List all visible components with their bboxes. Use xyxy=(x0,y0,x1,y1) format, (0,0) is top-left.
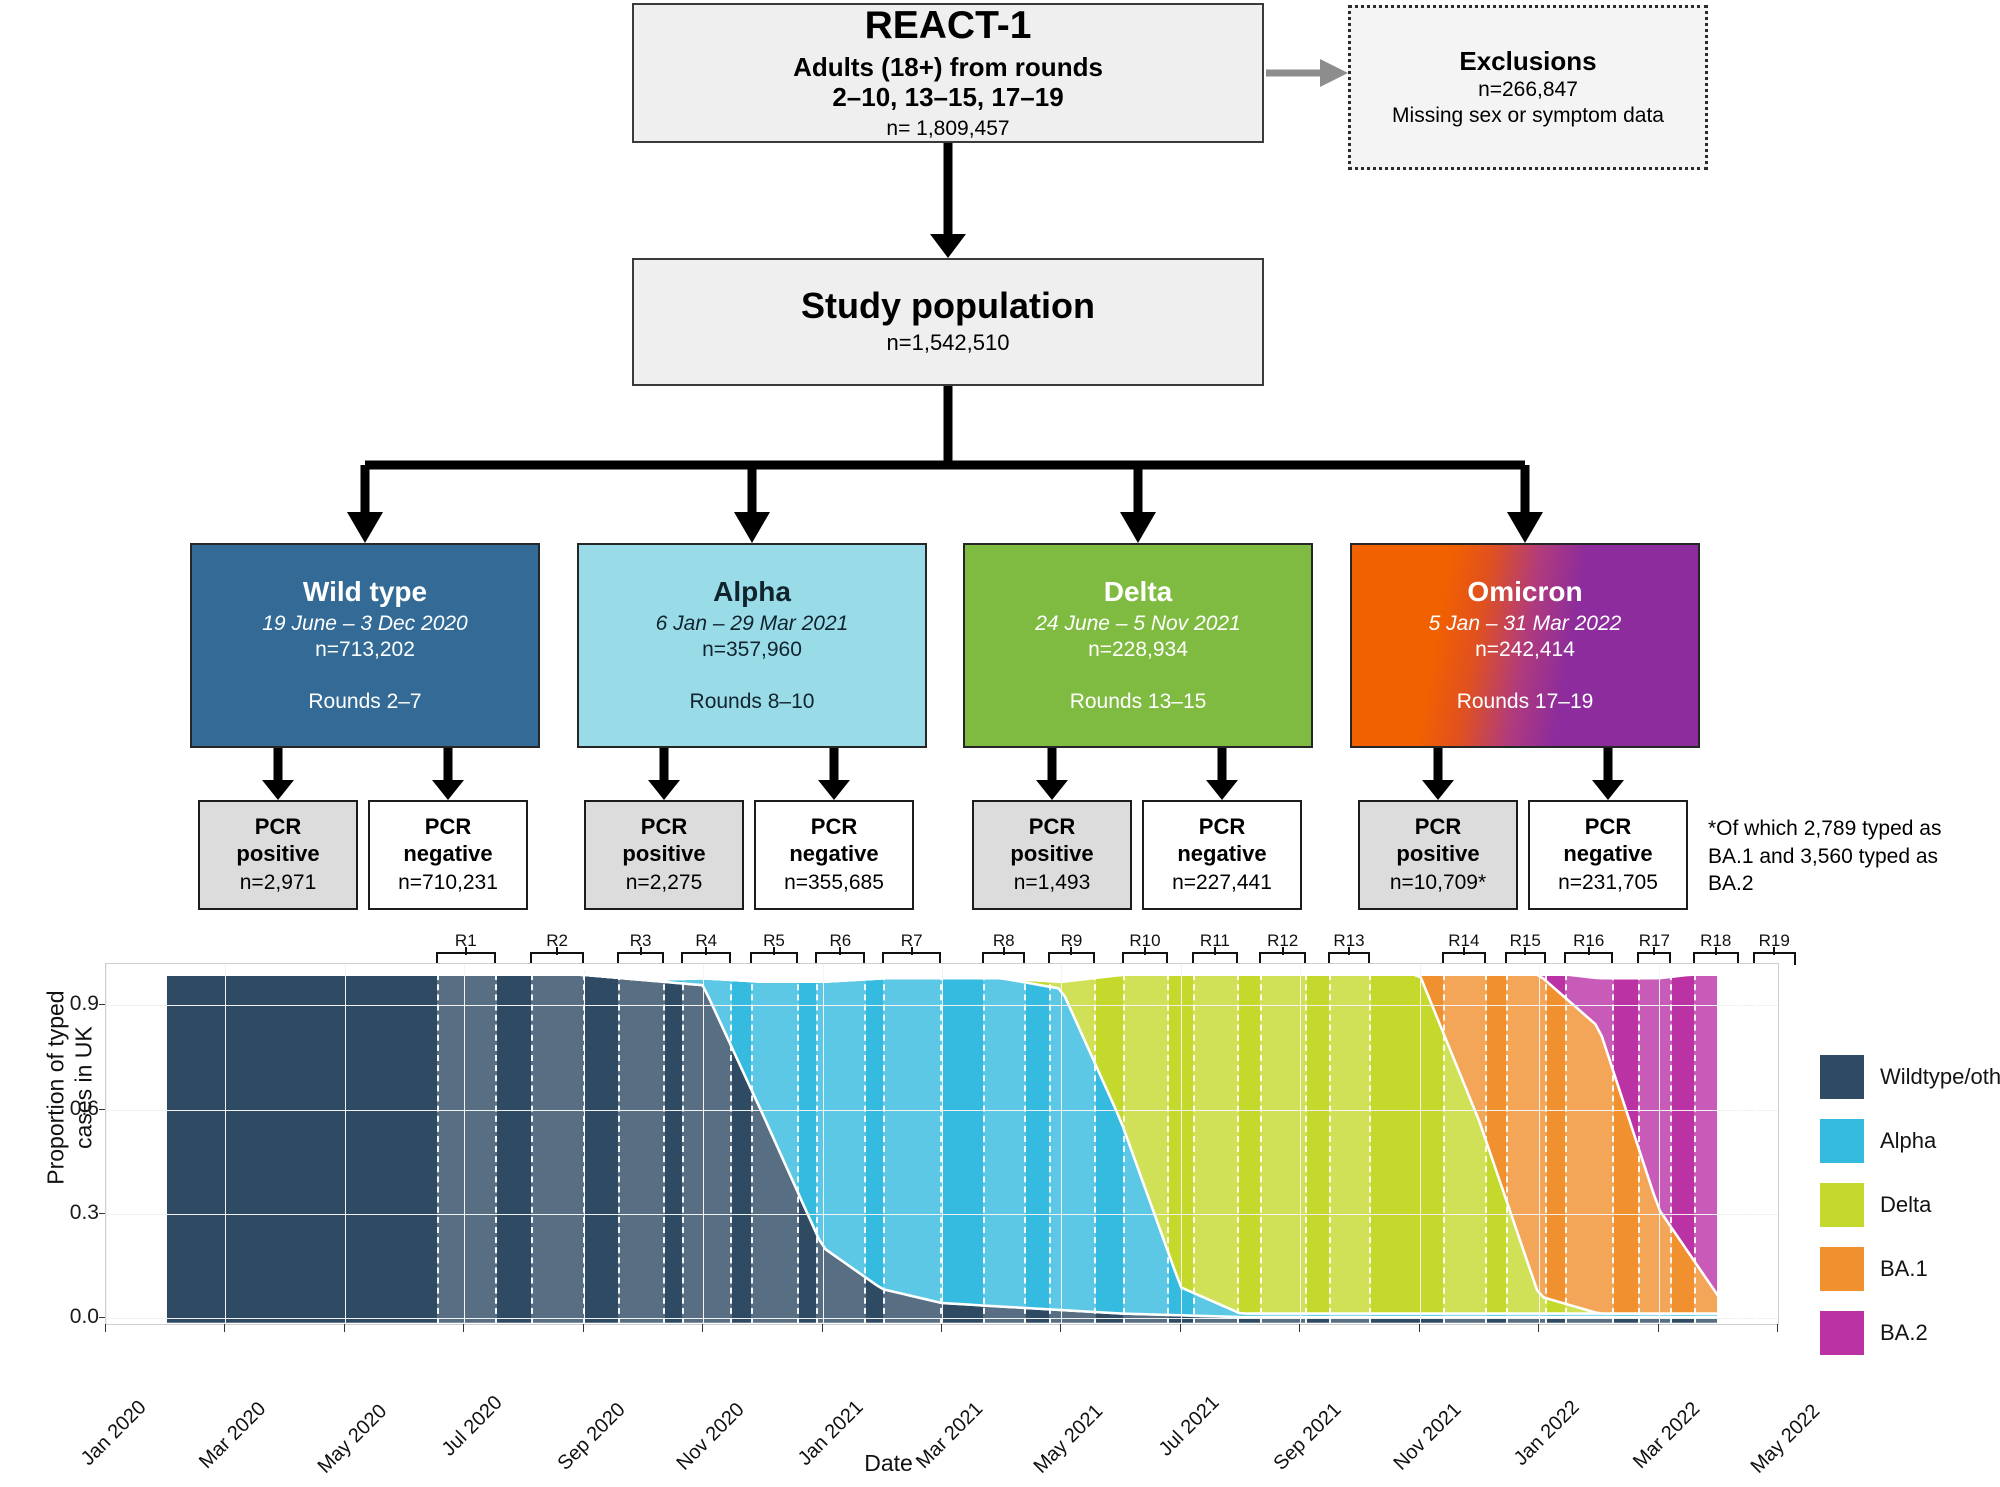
react1-subtitle-line1: Adults (18+) from rounds xyxy=(793,52,1103,83)
pcr-box-wild-negative: PCR negative n=710,231 xyxy=(368,800,528,910)
round-label-r7: R7 xyxy=(901,931,923,951)
variant-box-omicron: Omicron 5 Jan – 31 Mar 2022 n=242,414 Ro… xyxy=(1350,543,1700,748)
variant-name: Wild type xyxy=(303,577,427,608)
vertical-gridline xyxy=(106,964,107,1324)
pcr-box-delta-positive: PCR positive n=1,493 xyxy=(972,800,1132,910)
legend-label: Alpha xyxy=(1880,1128,1936,1154)
round-label-r9: R9 xyxy=(1061,931,1083,951)
vertical-gridline xyxy=(1181,964,1182,1324)
legend-swatch xyxy=(1820,1183,1864,1227)
variant-dates: 24 June – 5 Nov 2021 xyxy=(1035,611,1241,637)
x-tick-mark xyxy=(224,1324,225,1332)
vertical-gridline xyxy=(942,964,943,1324)
pcr-label-line2: positive xyxy=(236,841,319,868)
legend-swatch xyxy=(1820,1119,1864,1163)
pcr-box-alpha-negative: PCR negative n=355,685 xyxy=(754,800,914,910)
round-band-r9 xyxy=(1049,964,1096,1324)
y-axis-ticks: 0.00.30.60.9 xyxy=(35,935,99,1487)
round-band-r7 xyxy=(883,964,942,1324)
variant-n: n=242,414 xyxy=(1475,637,1575,663)
variant-name: Alpha xyxy=(713,577,791,608)
x-tick-mark xyxy=(1180,1324,1181,1332)
y-tick-mark xyxy=(99,1109,105,1110)
round-band-r17 xyxy=(1638,964,1672,1324)
pcr-n: n=10,709* xyxy=(1390,869,1486,896)
round-band-r11 xyxy=(1193,964,1239,1324)
x-tick-mark xyxy=(1060,1324,1061,1332)
y-tick-mark xyxy=(99,1004,105,1005)
variant-dates: 6 Jan – 29 Mar 2021 xyxy=(656,611,849,637)
variant-name: Delta xyxy=(1104,577,1172,608)
y-tick-mark xyxy=(99,1213,105,1214)
round-band-r1 xyxy=(437,964,497,1324)
round-band-r10 xyxy=(1123,964,1169,1324)
pcr-label-line2: negative xyxy=(403,841,492,868)
pcr-label-line1: PCR xyxy=(811,814,857,841)
round-label-r16: R16 xyxy=(1573,931,1604,951)
pcr-n: n=2,275 xyxy=(626,869,703,896)
study-flowchart: REACT-1 Adults (18+) from rounds 2–10, 1… xyxy=(0,0,2000,935)
pcr-label-line2: positive xyxy=(1010,841,1093,868)
x-tick-mark xyxy=(1777,1324,1778,1332)
x-tick-mark xyxy=(583,1324,584,1332)
pcr-label-line1: PCR xyxy=(1029,814,1075,841)
legend-label: Wildtype/other xyxy=(1880,1064,2000,1090)
exclusions-box: Exclusions n=266,847 Missing sex or symp… xyxy=(1348,5,1708,170)
pcr-n: n=355,685 xyxy=(784,869,884,896)
round-band-r15 xyxy=(1506,964,1547,1324)
x-tick-mark xyxy=(1658,1324,1659,1332)
round-label-r10: R10 xyxy=(1129,931,1160,951)
variant-box-alpha: Alpha 6 Jan – 29 Mar 2021 n=357,960 Roun… xyxy=(577,543,927,748)
round-band-r16 xyxy=(1565,964,1614,1324)
x-tick-mark xyxy=(344,1324,345,1332)
pcr-box-delta-negative: PCR negative n=227,441 xyxy=(1142,800,1302,910)
round-band-r4 xyxy=(682,964,732,1324)
legend-swatch xyxy=(1820,1055,1864,1099)
legend-swatch xyxy=(1820,1247,1864,1291)
variant-dates: 19 June – 3 Dec 2020 xyxy=(262,611,468,637)
pcr-label-line2: positive xyxy=(622,841,705,868)
round-band-r18 xyxy=(1694,964,1740,1324)
pcr-label-line2: positive xyxy=(1396,841,1479,868)
x-tick-mark xyxy=(822,1324,823,1332)
variant-n: n=357,960 xyxy=(702,637,802,663)
chart-plot-area xyxy=(105,963,1779,1325)
ba-typing-footnote: *Of which 2,789 typed as BA.1 and 3,560 … xyxy=(1708,815,1958,898)
chart-legend: Wildtype/otherAlphaDeltaBA.1BA.2 xyxy=(1820,1055,2000,1375)
variant-rounds: Rounds 8–10 xyxy=(690,690,815,714)
pcr-label-line1: PCR xyxy=(1415,814,1461,841)
pcr-n: n=710,231 xyxy=(398,869,498,896)
variant-rounds: Rounds 17–19 xyxy=(1457,690,1594,714)
variant-box-delta: Delta 24 June – 5 Nov 2021 n=228,934 Rou… xyxy=(963,543,1313,748)
round-band-r13 xyxy=(1329,964,1372,1324)
react1-n: n= 1,809,457 xyxy=(886,116,1009,141)
legend-swatch xyxy=(1820,1311,1864,1355)
pcr-n: n=1,493 xyxy=(1014,869,1091,896)
pcr-box-omicron-negative: PCR negative n=231,705 xyxy=(1528,800,1688,910)
legend-label: BA.1 xyxy=(1880,1256,1928,1282)
round-label-r8: R8 xyxy=(993,931,1015,951)
x-tick-mark xyxy=(105,1324,106,1332)
y-tick-label: 0.6 xyxy=(35,1097,99,1121)
round-label-r6: R6 xyxy=(829,931,851,951)
pcr-label-line2: negative xyxy=(1563,841,1652,868)
study-population-n: n=1,542,510 xyxy=(887,330,1010,356)
round-brackets: R1R2R3R4R5R6R7R8R9R10R11R12R13R14R15R16R… xyxy=(105,935,1777,965)
y-tick-label: 0.3 xyxy=(35,1201,99,1225)
x-tick-mark xyxy=(941,1324,942,1332)
round-label-r2: R2 xyxy=(546,931,568,951)
legend-item-delta: Delta xyxy=(1820,1183,2000,1227)
pcr-label-line2: negative xyxy=(789,841,878,868)
round-label-r17: R17 xyxy=(1639,931,1670,951)
pcr-label-line1: PCR xyxy=(1199,814,1245,841)
variant-name: Omicron xyxy=(1467,577,1582,608)
variant-rounds: Rounds 13–15 xyxy=(1070,690,1207,714)
pcr-n: n=2,971 xyxy=(240,869,317,896)
exclusions-title: Exclusions xyxy=(1459,47,1596,75)
variant-n: n=713,202 xyxy=(315,637,415,663)
round-band-r12 xyxy=(1260,964,1307,1324)
round-label-r4: R4 xyxy=(695,931,717,951)
react1-box: REACT-1 Adults (18+) from rounds 2–10, 1… xyxy=(632,3,1264,143)
round-label-r11: R11 xyxy=(1200,931,1230,951)
x-tick-mark xyxy=(463,1324,464,1332)
round-label-r19: R19 xyxy=(1759,931,1790,951)
round-label-r1: R1 xyxy=(455,931,477,951)
react1-title: REACT-1 xyxy=(865,5,1032,47)
pcr-box-omicron-positive: PCR positive n=10,709* xyxy=(1358,800,1518,910)
exclusions-reason: Missing sex or symptom data xyxy=(1392,103,1664,128)
vertical-gridline xyxy=(225,964,226,1324)
y-tick-mark xyxy=(99,1317,105,1318)
x-tick-mark xyxy=(1419,1324,1420,1332)
legend-item-ba-2: BA.2 xyxy=(1820,1311,2000,1355)
variant-box-wild-type: Wild type 19 June – 3 Dec 2020 n=713,202… xyxy=(190,543,540,748)
round-band-r3 xyxy=(618,964,665,1324)
round-label-r13: R13 xyxy=(1333,931,1364,951)
react1-subtitle-line2: 2–10, 13–15, 17–19 xyxy=(832,82,1063,113)
vertical-gridline xyxy=(345,964,346,1324)
pcr-label-line1: PCR xyxy=(255,814,301,841)
round-band-r2 xyxy=(531,964,585,1324)
y-tick-label: 0.9 xyxy=(35,992,99,1016)
study-population-title: Study population xyxy=(801,287,1095,326)
round-label-r18: R18 xyxy=(1700,931,1731,951)
variant-proportion-area-chart: Proportion of typed cases in UK 0.00.30.… xyxy=(0,935,2000,1487)
legend-item-alpha: Alpha xyxy=(1820,1119,2000,1163)
x-tick-mark xyxy=(1299,1324,1300,1332)
pcr-label-line1: PCR xyxy=(1585,814,1631,841)
variant-dates: 5 Jan – 31 Mar 2022 xyxy=(1429,611,1622,637)
round-band-r19 xyxy=(1754,964,1779,1324)
y-tick-label: 0.0 xyxy=(35,1305,99,1329)
x-tick-mark xyxy=(702,1324,703,1332)
vertical-gridline xyxy=(1778,964,1779,1324)
x-tick-label: May 2022 xyxy=(1747,1400,1825,1478)
round-label-r14: R14 xyxy=(1448,931,1479,951)
variant-rounds: Rounds 2–7 xyxy=(308,690,421,714)
round-band-r6 xyxy=(816,964,866,1324)
variant-n: n=228,934 xyxy=(1088,637,1188,663)
round-band-r14 xyxy=(1443,964,1487,1324)
pcr-label-line2: negative xyxy=(1177,841,1266,868)
legend-item-ba-1: BA.1 xyxy=(1820,1247,2000,1291)
vertical-gridline xyxy=(1420,964,1421,1324)
round-label-r5: R5 xyxy=(763,931,785,951)
exclusions-n: n=266,847 xyxy=(1478,77,1578,102)
legend-label: Delta xyxy=(1880,1192,1931,1218)
legend-item-wildtype-other: Wildtype/other xyxy=(1820,1055,2000,1099)
pcr-label-line1: PCR xyxy=(641,814,687,841)
x-tick-mark xyxy=(1538,1324,1539,1332)
legend-label: BA.2 xyxy=(1880,1320,1928,1346)
pcr-box-alpha-positive: PCR positive n=2,275 xyxy=(584,800,744,910)
round-band-r8 xyxy=(983,964,1026,1324)
pcr-n: n=227,441 xyxy=(1172,869,1272,896)
round-band-r5 xyxy=(751,964,800,1324)
pcr-label-line1: PCR xyxy=(425,814,471,841)
pcr-box-wild-positive: PCR positive n=2,971 xyxy=(198,800,358,910)
pcr-n: n=231,705 xyxy=(1558,869,1658,896)
round-label-r15: R15 xyxy=(1510,931,1541,951)
study-population-box: Study population n=1,542,510 xyxy=(632,258,1264,386)
round-label-r3: R3 xyxy=(630,931,652,951)
round-label-r12: R12 xyxy=(1267,931,1298,951)
